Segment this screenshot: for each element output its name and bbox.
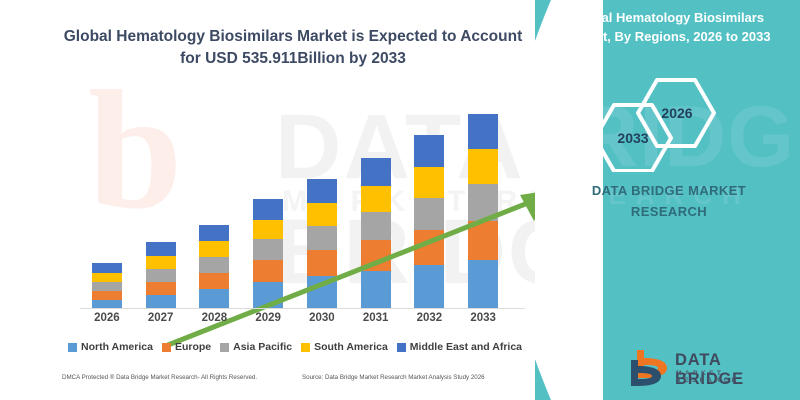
bar-stack [199,225,229,309]
bar-series-container [80,95,510,308]
bar-stack [146,242,176,308]
logo-mark-icon [627,348,673,388]
x-axis-tick-label: 2031 [349,312,403,324]
bar-stack [414,135,444,308]
bar-segment [146,242,176,256]
x-axis-tick-label: 2028 [187,312,241,324]
bar-segment [253,260,283,282]
bar-segment [199,225,229,242]
bar-segment [92,300,122,308]
legend-item[interactable]: North America [68,341,153,353]
bar-segment [414,167,444,198]
bar-segment [468,184,498,221]
panel-brand: DATA BRIDGE MARKET RESEARCH [555,180,783,222]
legend-label: Europe [175,341,211,353]
bar-segment [199,241,229,257]
company-logo: DATA BRIDGE MARKET RESEARCH [627,348,792,390]
bar-segment [468,114,498,149]
legend-swatch-icon [397,343,406,352]
panel-brand-line2: RESEARCH [631,204,707,219]
bar-segment [414,198,444,230]
bar-segment [199,273,229,290]
bar-stack [468,114,498,308]
legend-label: North America [81,341,153,353]
x-axis-tick-label: 2033 [456,312,510,324]
panel-brand-line1: DATA BRIDGE MARKET [592,183,746,198]
bar-segment [307,276,337,308]
bar-segment [253,220,283,239]
legend-swatch-icon [68,343,77,352]
bar-segment [253,282,283,308]
bar-segment [307,226,337,250]
legend-label: Middle East and Africa [410,341,522,353]
legend-item[interactable]: Middle East and Africa [397,341,522,353]
bar-stack [307,179,337,308]
bar-segment [307,179,337,203]
bar-segment [468,149,498,183]
bar-segment [92,263,122,273]
bar-stack [253,199,283,308]
bar-segment [361,158,391,186]
side-panel: BRIDGE RESEARCH Global Hematology Biosim… [535,0,800,400]
bar-segment [146,295,176,308]
bar-segment [146,282,176,295]
x-axis-labels: 20262027202820292030203120322033 [80,312,510,332]
hexagon-badges: 2026 2033 [585,62,775,172]
page-title: Global Hematology Biosimilars Market is … [58,26,528,70]
legend-swatch-icon [162,343,171,352]
bar-segment [361,271,391,308]
hexagon-label-2026: 2026 [647,105,707,121]
bar-segment [253,199,283,219]
legend-label: Asia Pacific [233,341,292,353]
bar-segment [468,221,498,260]
chart-plot-area [80,95,510,310]
legend-swatch-icon [220,343,229,352]
bar-segment [361,186,391,213]
bar-stack [361,158,391,308]
bar-stack [92,263,122,308]
hexagon-label-2033: 2033 [603,130,663,146]
legend-item[interactable]: Europe [162,341,211,353]
legend-item[interactable]: Asia Pacific [220,341,292,353]
bar-segment [307,250,337,276]
x-axis-line [80,308,525,309]
bar-segment [414,135,444,167]
x-axis-tick-label: 2029 [241,312,295,324]
legend-label: South America [314,341,388,353]
bar-segment [199,257,229,273]
bar-segment [414,230,444,265]
legend-swatch-icon [301,343,310,352]
bar-segment [307,203,337,226]
footer-source: Source: Data Bridge Market Research Mark… [302,374,485,381]
logo-tagline: MARKET RESEARCH [676,370,792,384]
legend-item[interactable]: South America [301,341,388,353]
chart-legend: North AmericaEuropeAsia PacificSouth Ame… [60,341,530,353]
infographic-root: b DATA BRIDGE MARKET RESEARCH Global Hem… [0,0,800,400]
panel-title: Global Hematology Biosimilars Market, By… [553,8,783,46]
bar-segment [414,265,444,308]
bar-segment [92,291,122,299]
bar-segment [146,269,176,282]
bar-segment [146,256,176,269]
footer-copyright: DMCA Protected ® Data Bridge Market Rese… [62,374,257,381]
x-axis-tick-label: 2032 [402,312,456,324]
bar-segment [361,212,391,240]
bar-segment [92,282,122,291]
bar-segment [361,240,391,271]
bar-segment [92,273,122,282]
x-axis-tick-label: 2027 [134,312,188,324]
x-axis-tick-label: 2030 [295,312,349,324]
bar-segment [199,289,229,308]
bar-segment [468,260,498,308]
bar-segment [253,239,283,259]
x-axis-tick-label: 2026 [80,312,134,324]
